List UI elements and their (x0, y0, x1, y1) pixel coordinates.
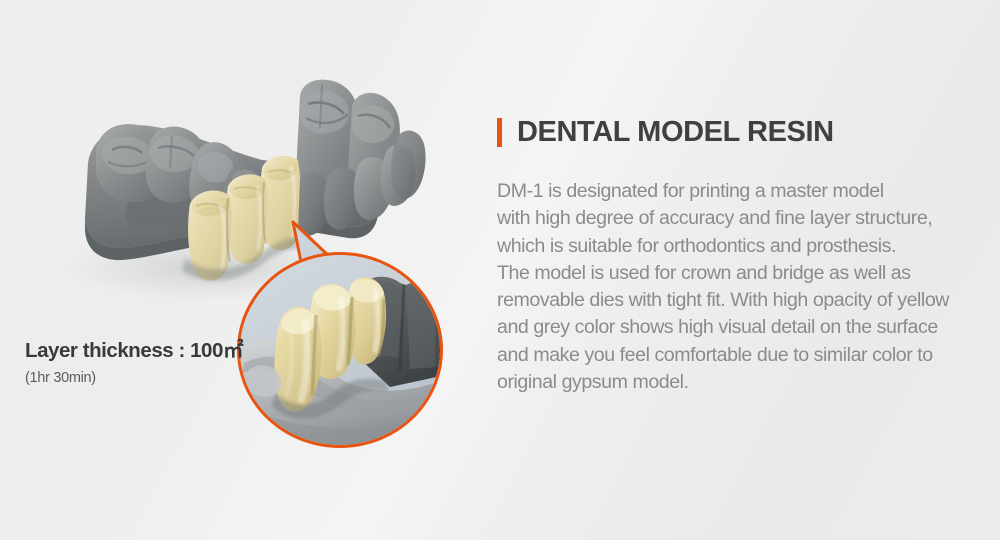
product-title-row: DENTAL MODEL RESIN (497, 112, 983, 152)
page-title: DENTAL MODEL RESIN (517, 118, 834, 147)
product-description: DM-1 is designated for printing a master… (497, 178, 983, 396)
layer-thickness-label: Layer thickness : 100㎡ (25, 338, 243, 364)
magnifier-callout (237, 252, 443, 448)
description-line: and grey color shows high visual detail … (497, 314, 983, 341)
description-line: with high degree of accuracy and fine la… (497, 205, 983, 232)
product-info-panel: DENTAL MODEL RESIN DM-1 is designated fo… (497, 112, 983, 396)
print-time-label: (1hr 30min) (25, 370, 243, 386)
promo-page: Layer thickness : 100㎡ (1hr 30min) DENTA… (0, 0, 1000, 540)
accent-bar-icon (497, 118, 502, 147)
dental-model-artwork: Layer thickness : 100㎡ (1hr 30min) (0, 0, 470, 470)
magnifier-circle (237, 252, 443, 448)
grey-teeth-right (292, 80, 426, 236)
description-line: DM-1 is designated for printing a master… (497, 178, 983, 205)
description-line: removable dies with tight fit. With high… (497, 287, 983, 314)
spec-caption: Layer thickness : 100㎡ (1hr 30min) (25, 338, 243, 386)
magnified-crown-detail-image (240, 255, 440, 445)
description-line: which is suitable for orthodontics and p… (497, 233, 983, 260)
description-line: The model is used for crown and bridge a… (497, 260, 983, 287)
description-line: and make you feel comfortable due to sim… (497, 342, 983, 369)
description-line: original gypsum model. (497, 369, 983, 396)
